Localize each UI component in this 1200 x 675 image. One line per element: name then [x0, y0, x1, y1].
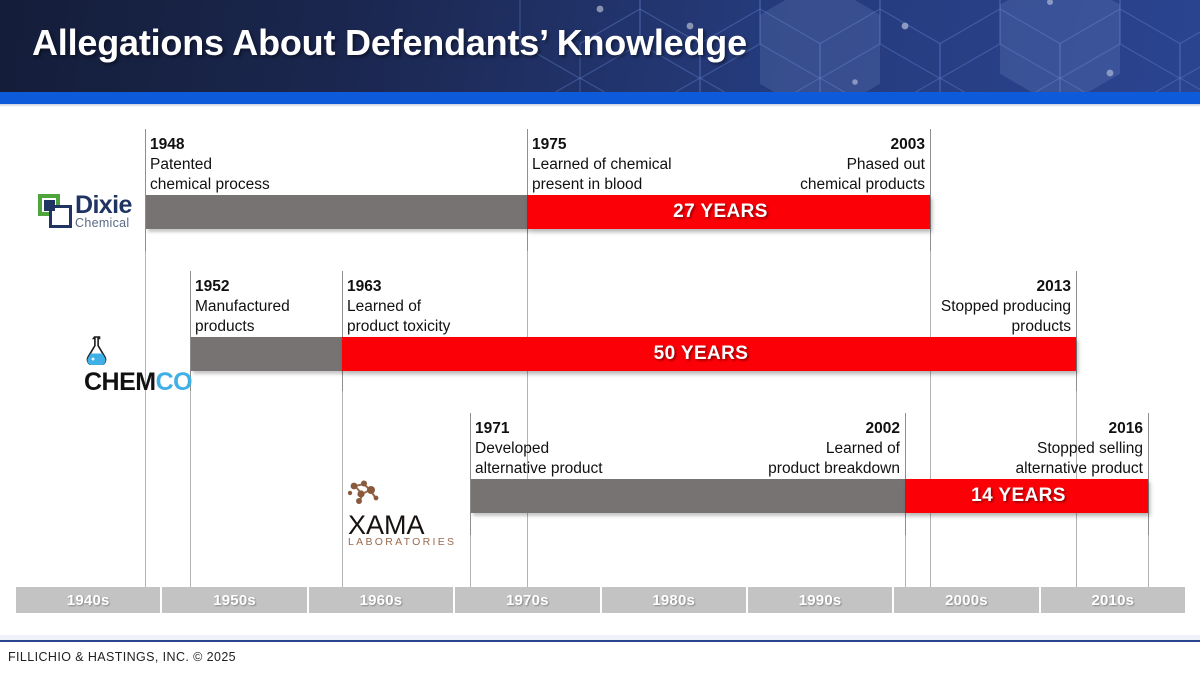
logo-xama-laboratories: XAMA LABORATORIES — [348, 477, 466, 548]
event-line2: alternative product — [908, 459, 1143, 479]
event-line2: products — [195, 317, 290, 337]
event-line2: chemical products — [690, 175, 925, 195]
event-line1: Patented — [150, 155, 270, 175]
slide-header: Allegations About Defendants’ Knowledge — [0, 0, 1200, 92]
bar-red-chemco[interactable]: 50 YEARS — [342, 337, 1076, 371]
event-year: 2002 — [665, 419, 900, 439]
event-line1: Learned of chemical — [532, 155, 672, 175]
bar-gray-chemco — [191, 337, 342, 371]
gridline-1963-extension — [342, 391, 343, 587]
event-line2: alternative product — [475, 459, 603, 479]
duration-label: 27 YEARS — [527, 195, 930, 229]
axis-cell-1960s[interactable]: 1960s — [309, 587, 453, 613]
event-year: 1971 — [475, 419, 603, 439]
axis-cell-1950s[interactable]: 1950s — [162, 587, 306, 613]
event-2003: 2003 Phased out chemical products — [690, 135, 925, 195]
event-year: 2003 — [690, 135, 925, 155]
event-2016: 2016 Stopped selling alternative product — [908, 419, 1143, 479]
event-year: 1948 — [150, 135, 270, 155]
event-line1: Manufactured — [195, 297, 290, 317]
event-line1: Developed — [475, 439, 603, 459]
gridline-2013 — [1076, 271, 1077, 391]
event-1963: 1963 Learned of product toxicity — [347, 277, 450, 337]
bar-gray-xama — [471, 479, 905, 513]
event-year: 2016 — [908, 419, 1143, 439]
timeline-canvas: Dixie Chemical 1948 Patented chemical pr… — [0, 107, 1200, 607]
event-year: 2013 — [836, 277, 1071, 297]
duration-label: 50 YEARS — [342, 337, 1076, 371]
gridline-1963 — [342, 271, 343, 391]
axis-cell-2000s[interactable]: 2000s — [894, 587, 1038, 613]
event-line1: Stopped producing — [836, 297, 1071, 317]
axis-cell-1970s[interactable]: 1970s — [455, 587, 599, 613]
duration-label: 14 YEARS — [905, 479, 1148, 513]
xama-wordmark-secondary: LABORATORIES — [348, 537, 456, 548]
dixie-mark-icon — [38, 194, 72, 228]
logo-chemco: CHEMCO — [84, 335, 188, 395]
event-1952: 1952 Manufactured products — [195, 277, 290, 337]
decade-axis: 1940s 1950s 1960s 1970s 1980s 1990s 2000… — [16, 587, 1185, 613]
gridline-1948-extension — [145, 251, 146, 587]
gridline-2016 — [1148, 413, 1149, 535]
gridline-1971-extension — [470, 535, 471, 587]
logo-dixie-chemical: Dixie Chemical — [38, 193, 138, 230]
gridline-2016-extension — [1148, 535, 1149, 587]
gridline-1975 — [527, 129, 528, 251]
event-year: 1975 — [532, 135, 672, 155]
event-line2: present in blood — [532, 175, 672, 195]
event-1948: 1948 Patented chemical process — [150, 135, 270, 195]
event-2013: 2013 Stopped producing products — [836, 277, 1071, 337]
dixie-wordmark-secondary: Chemical — [75, 217, 132, 230]
gridline-2002 — [905, 413, 906, 535]
gridline-1952-extension — [190, 391, 191, 587]
axis-cell-1940s[interactable]: 1940s — [16, 587, 160, 613]
page-title: Allegations About Defendants’ Knowledge — [32, 22, 747, 64]
event-line2: products — [836, 317, 1071, 337]
bar-gray-dixie — [146, 195, 527, 229]
chemco-wordmark-secondary: CO — [156, 368, 193, 396]
slide-root: Allegations About Defendants’ Knowledge — [0, 0, 1200, 675]
event-year: 1963 — [347, 277, 450, 297]
xama-wordmark-primary: XAMA — [348, 512, 456, 539]
chemco-wordmark-primary: CHEM — [84, 368, 156, 396]
event-line2: product toxicity — [347, 317, 450, 337]
footer-copyright: FILLICHIO & HASTINGS, INC. © 2025 — [8, 650, 236, 664]
event-year: 1952 — [195, 277, 290, 297]
bar-red-dixie[interactable]: 27 YEARS — [527, 195, 930, 229]
event-line1: Phased out — [690, 155, 925, 175]
bar-group-chemco: 50 YEARS — [191, 337, 1076, 371]
event-1975: 1975 Learned of chemical present in bloo… — [532, 135, 672, 195]
axis-cell-1980s[interactable]: 1980s — [602, 587, 746, 613]
gridline-2002-extension — [905, 535, 906, 587]
event-line2: product breakdown — [665, 459, 900, 479]
axis-cell-2010s[interactable]: 2010s — [1041, 587, 1185, 613]
event-line1: Learned of — [347, 297, 450, 317]
gridline-2003 — [930, 129, 931, 251]
event-line1: Learned of — [665, 439, 900, 459]
chemco-wordmark: CHEMCO — [84, 370, 192, 395]
dixie-wordmark-primary: Dixie — [75, 193, 132, 218]
bar-group-xama: 14 YEARS — [471, 479, 1148, 513]
event-line2: chemical process — [150, 175, 270, 195]
event-line1: Stopped selling — [908, 439, 1143, 459]
flask-icon — [84, 335, 110, 370]
footer-divider — [0, 640, 1200, 642]
header-accent-bar — [0, 92, 1200, 104]
molecule-icon — [348, 477, 380, 512]
xama-wordmark: XAMA LABORATORIES — [348, 512, 456, 548]
gridline-1948 — [145, 129, 146, 251]
gridline-1971 — [470, 413, 471, 535]
event-2002: 2002 Learned of product breakdown — [665, 419, 900, 479]
bar-red-xama[interactable]: 14 YEARS — [905, 479, 1148, 513]
axis-cell-1990s[interactable]: 1990s — [748, 587, 892, 613]
bar-group-dixie: 27 YEARS — [146, 195, 930, 229]
event-1971: 1971 Developed alternative product — [475, 419, 603, 479]
